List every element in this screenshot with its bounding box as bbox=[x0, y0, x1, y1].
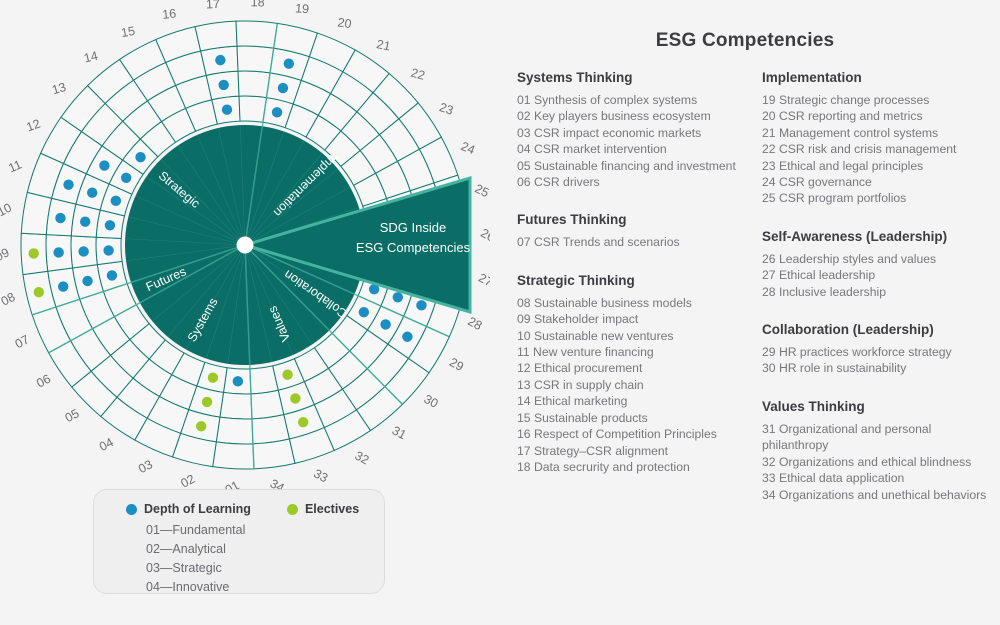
elective-dot bbox=[208, 372, 218, 382]
competency-item: 02 Key players business ecosystem bbox=[517, 108, 767, 124]
depth-dot bbox=[222, 104, 232, 114]
depth-of-learning-swatch-icon bbox=[126, 504, 137, 515]
ring-number: 27 bbox=[476, 271, 490, 290]
depth-dot bbox=[135, 152, 145, 162]
ring-number: 05 bbox=[63, 406, 82, 425]
center-hub bbox=[237, 237, 254, 254]
competency-item: 14 Ethical marketing bbox=[517, 393, 767, 409]
competency-item: 22 CSR risk and crisis management bbox=[762, 141, 1000, 157]
legend-level: 01—Fundamental bbox=[146, 521, 384, 540]
competency-group-title: Values Thinking bbox=[762, 399, 1000, 414]
competency-item: 15 Sustainable products bbox=[517, 410, 767, 426]
elective-dot bbox=[298, 417, 308, 427]
elective-dot bbox=[196, 421, 206, 431]
elective-dot bbox=[202, 397, 212, 407]
competency-item: 03 CSR impact economic markets bbox=[517, 125, 767, 141]
legend-header: Depth of Learning Electives bbox=[94, 502, 384, 516]
competency-group-title: Strategic Thinking bbox=[517, 273, 767, 288]
competency-item: 34 Organizations and unethical behaviors bbox=[762, 487, 1000, 503]
depth-dot bbox=[58, 281, 68, 291]
competency-item: 19 Strategic change processes bbox=[762, 92, 1000, 108]
competency-group: Strategic Thinking08 Sustainable busines… bbox=[517, 273, 767, 475]
ring-number: 29 bbox=[447, 355, 466, 374]
page-title: ESG Competencies bbox=[490, 30, 1000, 52]
competency-item: 29 HR practices workforce strategy bbox=[762, 344, 1000, 360]
elective-dot bbox=[28, 248, 38, 258]
competency-group: Systems Thinking01 Synthesis of complex … bbox=[517, 70, 767, 190]
competency-item: 31 Organizational and personal philanthr… bbox=[762, 421, 1000, 454]
ring-number: 08 bbox=[0, 290, 18, 309]
elective-dot bbox=[282, 369, 292, 379]
ring-cell bbox=[239, 96, 266, 122]
legend-box: Depth of Learning Electives 01—Fundament… bbox=[93, 489, 385, 594]
depth-dot bbox=[380, 319, 390, 329]
depth-dot bbox=[53, 247, 63, 257]
competency-item: 23 Ethical and legal principles bbox=[762, 158, 1000, 174]
competency-item: 08 Sustainable business models bbox=[517, 295, 767, 311]
radial-diagram-panel: 0102030405060708091011121314151617181920… bbox=[0, 0, 490, 625]
competency-item: 07 CSR Trends and scenarios bbox=[517, 234, 767, 250]
competency-group-title: Implementation bbox=[762, 70, 1000, 85]
ring-number: 12 bbox=[25, 116, 43, 134]
ring-number: 32 bbox=[353, 449, 372, 468]
elective-dot bbox=[290, 393, 300, 403]
ring-number: 03 bbox=[136, 457, 155, 476]
competency-item: 26 Leadership styles and values bbox=[762, 251, 1000, 267]
legend-depth-label: Depth of Learning bbox=[144, 502, 251, 516]
competency-item: 11 New venture financing bbox=[517, 344, 767, 360]
competency-item: 09 Stakeholder impact bbox=[517, 311, 767, 327]
ring-number: 07 bbox=[13, 332, 32, 351]
competency-item: 28 Inclusive leadership bbox=[762, 284, 1000, 300]
depth-dot bbox=[78, 246, 88, 256]
competency-item: 20 CSR reporting and metrics bbox=[762, 108, 1000, 124]
ring-number: 18 bbox=[251, 0, 265, 9]
depth-dot bbox=[272, 107, 282, 117]
competency-item: 21 Management control systems bbox=[762, 125, 1000, 141]
ring-number: 30 bbox=[422, 392, 441, 411]
ring-number: 21 bbox=[375, 37, 391, 54]
ring-cell bbox=[220, 392, 252, 419]
competency-item: 06 CSR drivers bbox=[517, 174, 767, 190]
depth-dot bbox=[111, 196, 121, 206]
ring-number: 17 bbox=[206, 0, 221, 11]
depth-dot bbox=[233, 376, 243, 386]
competency-item: 30 HR role in sustainability bbox=[762, 360, 1000, 376]
competency-item: 25 CSR program portfolios bbox=[762, 190, 1000, 206]
competency-group-title: Systems Thinking bbox=[517, 70, 767, 85]
competency-column-left: Systems Thinking01 Synthesis of complex … bbox=[517, 70, 767, 497]
depth-dot bbox=[218, 80, 228, 90]
depth-dot bbox=[80, 217, 90, 227]
competency-group-title: Collaboration (Leadership) bbox=[762, 322, 1000, 337]
depth-dot bbox=[402, 332, 412, 342]
ring-number: 11 bbox=[6, 157, 24, 175]
ring-number: 33 bbox=[311, 466, 330, 485]
ring-cell bbox=[195, 21, 237, 51]
ring-number: 02 bbox=[178, 472, 197, 491]
competency-item: 18 Data secrurity and protection bbox=[517, 459, 767, 475]
competency-item: 12 Ethical procurement bbox=[517, 360, 767, 376]
ring-number: 24 bbox=[459, 139, 477, 157]
competency-item: 16 Respect of Competition Principles bbox=[517, 426, 767, 442]
ring-number: 16 bbox=[162, 6, 177, 21]
ring-number: 14 bbox=[83, 49, 100, 66]
competency-item: 13 CSR in supply chain bbox=[517, 377, 767, 393]
ring-number: 22 bbox=[409, 66, 426, 83]
competency-item: 17 Strategy–CSR alignment bbox=[517, 443, 767, 459]
ring-cell bbox=[21, 192, 51, 234]
competency-item: 24 CSR governance bbox=[762, 174, 1000, 190]
competency-group: Implementation19 Strategic change proces… bbox=[762, 70, 1000, 207]
legend-electives-group: Electives bbox=[287, 502, 359, 516]
depth-dot bbox=[215, 55, 225, 65]
legend-electives-label: Electives bbox=[305, 502, 359, 516]
competency-column-right: Implementation19 Strategic change proces… bbox=[762, 70, 1000, 525]
competency-group: Collaboration (Leadership)29 HR practice… bbox=[762, 322, 1000, 377]
ring-number: 25 bbox=[473, 182, 490, 201]
competency-item: 01 Synthesis of complex systems bbox=[517, 92, 767, 108]
depth-dot bbox=[103, 245, 113, 255]
ring-number: 06 bbox=[34, 372, 53, 391]
ring-cell bbox=[237, 46, 274, 73]
legend-level: 04—Innovative bbox=[146, 578, 384, 597]
depth-dot bbox=[359, 307, 369, 317]
ring-cell bbox=[216, 417, 253, 444]
legend-depth-group: Depth of Learning bbox=[126, 502, 251, 516]
competency-item: 32 Organizations and ethical blindness bbox=[762, 454, 1000, 470]
depth-dot bbox=[284, 59, 294, 69]
depth-dot bbox=[55, 213, 65, 223]
competency-group-title: Futures Thinking bbox=[517, 212, 767, 227]
ring-number: 19 bbox=[295, 1, 310, 16]
competency-item: 04 CSR market intervention bbox=[517, 141, 767, 157]
ring-number: 20 bbox=[337, 15, 353, 31]
competency-group-title: Self-Awareness (Leadership) bbox=[762, 229, 1000, 244]
depth-dot bbox=[416, 300, 426, 310]
ring-number: 10 bbox=[0, 201, 14, 220]
callout-line-1: SDG Inside bbox=[380, 220, 446, 235]
competency-item: 10 Sustainable new ventures bbox=[517, 328, 767, 344]
depth-dot bbox=[107, 270, 117, 280]
ring-number: 04 bbox=[97, 435, 116, 454]
callout-line-2: ESG Competencies bbox=[356, 240, 471, 255]
ring-cell bbox=[251, 390, 284, 419]
competency-group: Self-Awareness (Leadership)26 Leadership… bbox=[762, 229, 1000, 300]
ring-number: 28 bbox=[465, 314, 484, 333]
ring-number: 15 bbox=[120, 24, 136, 40]
ring-cell bbox=[252, 415, 289, 444]
ring-cell bbox=[213, 442, 254, 469]
legend-level: 02—Analytical bbox=[146, 540, 384, 559]
competency-item: 27 Ethical leadership bbox=[762, 267, 1000, 283]
legend-level: 03—Strategic bbox=[146, 559, 384, 578]
legend-levels: 01—Fundamental 02—Analytical 03—Strategi… bbox=[146, 521, 384, 597]
depth-dot bbox=[105, 220, 115, 230]
depth-dot bbox=[278, 83, 288, 93]
depth-dot bbox=[82, 276, 92, 286]
ring-cell bbox=[236, 21, 277, 48]
ring-number: 13 bbox=[50, 80, 67, 97]
depth-dot bbox=[99, 160, 109, 170]
depth-dot bbox=[63, 179, 73, 189]
competency-list-panel: ESG Competencies Systems Thinking01 Synt… bbox=[490, 0, 1000, 625]
ring-cell bbox=[253, 439, 295, 469]
ring-number: 31 bbox=[390, 423, 409, 442]
ring-number: 09 bbox=[0, 245, 12, 264]
elective-dot bbox=[34, 287, 44, 297]
depth-dot bbox=[393, 292, 403, 302]
ring-cell bbox=[238, 71, 270, 98]
depth-dot bbox=[87, 188, 97, 198]
competency-item: 05 Sustainable financing and investment bbox=[517, 158, 767, 174]
competency-group: Values Thinking31 Organizational and per… bbox=[762, 399, 1000, 503]
depth-dot bbox=[121, 173, 131, 183]
ring-number: 26 bbox=[478, 226, 490, 245]
competency-item: 33 Ethical data application bbox=[762, 470, 1000, 486]
electives-swatch-icon bbox=[287, 504, 298, 515]
competency-group: Futures Thinking07 CSR Trends and scenar… bbox=[517, 212, 767, 250]
ring-cell bbox=[250, 366, 278, 394]
ring-number: 23 bbox=[437, 100, 455, 118]
